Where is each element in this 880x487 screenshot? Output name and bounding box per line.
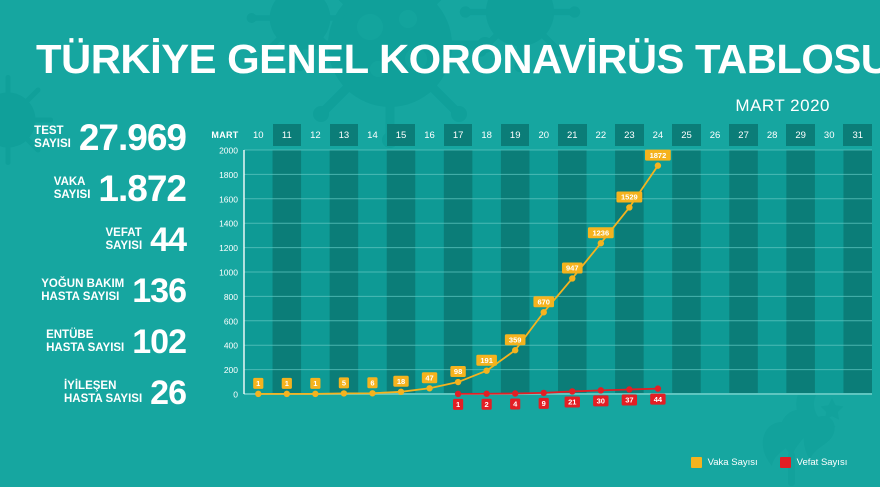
data-point[interactable] xyxy=(655,385,661,391)
stat-label-line2: HASTA SAYISI xyxy=(64,393,142,406)
date-cell-23[interactable]: 23 xyxy=(615,124,644,146)
date-cell-25[interactable]: 25 xyxy=(672,124,701,146)
data-point-label: 1 xyxy=(313,379,317,388)
stat-label-line2: HASTA SAYISI xyxy=(46,342,124,355)
data-point-label: 191 xyxy=(480,356,493,365)
data-point[interactable] xyxy=(541,390,547,396)
stat-row-test: TEST SAYISI 27.969 xyxy=(0,112,200,163)
data-point-label: 1 xyxy=(285,379,289,388)
stat-value-test: 27.969 xyxy=(79,121,186,155)
stat-value-vaka: 1.872 xyxy=(98,172,186,206)
data-point-label: 670 xyxy=(537,297,550,306)
y-tick-label-1400: 1400 xyxy=(219,219,238,229)
stat-label-line1: VEFAT xyxy=(106,227,143,240)
data-point-label: 30 xyxy=(597,397,605,406)
date-cell-10[interactable]: 10 xyxy=(244,124,273,146)
data-point-label: 1529 xyxy=(621,193,638,202)
stat-label-line1: TEST xyxy=(34,125,71,138)
stat-label-line1: ENTÜBE xyxy=(46,329,124,342)
date-cell-20[interactable]: 20 xyxy=(529,124,558,146)
month-year-label: MART 2020 xyxy=(735,96,830,116)
y-tick-label-200: 200 xyxy=(224,365,238,375)
stat-value-entube: 102 xyxy=(132,325,186,359)
stat-label-vefat: VEFAT SAYISI xyxy=(106,227,143,252)
date-cell-21[interactable]: 21 xyxy=(558,124,587,146)
y-tick-label-600: 600 xyxy=(224,316,238,326)
data-point[interactable] xyxy=(455,379,461,385)
date-cells: 1011121314151617181920212223242526272829… xyxy=(244,124,872,146)
chart-panel: MART 2020 MART 1011121314151617181920212… xyxy=(206,96,872,466)
data-point-label: 9 xyxy=(542,399,546,408)
stat-value-vefat: 44 xyxy=(150,223,186,257)
data-point-label: 2 xyxy=(485,400,489,409)
data-point[interactable] xyxy=(284,391,290,397)
date-cell-22[interactable]: 22 xyxy=(587,124,616,146)
data-point-label: 37 xyxy=(625,396,633,405)
y-tick-label-0: 0 xyxy=(233,390,238,400)
data-point-label: 44 xyxy=(654,395,663,404)
y-tick-label-1200: 1200 xyxy=(219,243,238,253)
stat-label-iyilesen: İYİLEŞEN HASTA SAYISI xyxy=(64,380,142,405)
stat-label-line2: SAYISI xyxy=(34,138,71,151)
date-header-row: MART 10111213141516171819202122232425262… xyxy=(206,124,872,146)
data-point[interactable] xyxy=(312,391,318,397)
data-point[interactable] xyxy=(598,240,604,246)
data-point-label: 21 xyxy=(568,398,576,407)
date-cell-27[interactable]: 27 xyxy=(729,124,758,146)
chart-legend: Vaka Sayısı Vefat Sayısı xyxy=(206,457,880,468)
data-point[interactable] xyxy=(626,204,632,210)
stat-row-entube: ENTÜBE HASTA SAYISI 102 xyxy=(0,316,200,367)
date-cell-16[interactable]: 16 xyxy=(415,124,444,146)
date-cell-18[interactable]: 18 xyxy=(472,124,501,146)
data-point-label: 1236 xyxy=(592,228,609,237)
data-point-label: 47 xyxy=(425,373,433,382)
y-tick-label-2000: 2000 xyxy=(219,146,238,156)
y-tick-label-1000: 1000 xyxy=(219,268,238,278)
data-point-label: 6 xyxy=(370,378,374,387)
legend-item-vaka: Vaka Sayısı xyxy=(691,457,758,468)
stat-label-line1: İYİLEŞEN xyxy=(64,380,142,393)
stat-label-line2: HASTA SAYISI xyxy=(41,291,124,304)
y-tick-label-800: 800 xyxy=(224,292,238,302)
data-point[interactable] xyxy=(626,386,632,392)
data-point[interactable] xyxy=(426,385,432,391)
date-cell-14[interactable]: 14 xyxy=(358,124,387,146)
legend-swatch-vefat xyxy=(780,457,791,468)
stat-value-yogun-bakim: 136 xyxy=(132,274,186,308)
legend-item-vefat: Vefat Sayısı xyxy=(780,457,848,468)
stat-row-vaka: VAKA SAYISI 1.872 xyxy=(0,163,200,214)
data-point[interactable] xyxy=(255,391,261,397)
stat-label-test: TEST SAYISI xyxy=(34,125,71,150)
data-point[interactable] xyxy=(341,390,347,396)
stat-value-iyilesen: 26 xyxy=(150,376,186,410)
data-point-label: 359 xyxy=(509,335,522,344)
stat-label-entube: ENTÜBE HASTA SAYISI xyxy=(46,329,124,354)
data-point[interactable] xyxy=(512,390,518,396)
stat-row-vefat: VEFAT SAYISI 44 xyxy=(0,214,200,265)
stat-row-yogun-bakim: YOĞUN BAKIM HASTA SAYISI 136 xyxy=(0,265,200,316)
date-cell-29[interactable]: 29 xyxy=(786,124,815,146)
data-point[interactable] xyxy=(398,389,404,395)
stat-label-vaka: VAKA SAYISI xyxy=(54,176,91,201)
stat-label-line1: YOĞUN BAKIM xyxy=(41,278,124,291)
data-point-label: 98 xyxy=(454,367,462,376)
stat-row-iyilesen: İYİLEŞEN HASTA SAYISI 26 xyxy=(0,367,200,418)
page-title: TÜRKİYE GENEL KORONAVİRÜS TABLOSU xyxy=(36,36,880,83)
stat-label-line1: VAKA xyxy=(54,176,91,189)
data-point-label: 947 xyxy=(566,264,579,273)
line-chart-svg: 0200400600800100012001400160018002000111… xyxy=(206,146,872,446)
data-point[interactable] xyxy=(512,347,518,353)
legend-label-vefat: Vefat Sayısı xyxy=(797,457,848,468)
date-header-month-label: MART xyxy=(206,124,244,146)
date-cell-26[interactable]: 26 xyxy=(701,124,730,146)
data-point[interactable] xyxy=(483,367,489,373)
data-point-label: 1872 xyxy=(650,151,667,160)
date-cell-15[interactable]: 15 xyxy=(387,124,416,146)
data-point[interactable] xyxy=(541,309,547,315)
date-cell-28[interactable]: 28 xyxy=(758,124,787,146)
y-tick-label-1600: 1600 xyxy=(219,194,238,204)
date-cell-24[interactable]: 24 xyxy=(644,124,673,146)
date-cell-17[interactable]: 17 xyxy=(444,124,473,146)
legend-swatch-vaka xyxy=(691,457,702,468)
y-tick-label-400: 400 xyxy=(224,341,238,351)
date-cell-19[interactable]: 19 xyxy=(501,124,530,146)
data-point[interactable] xyxy=(569,275,575,281)
date-cell-30[interactable]: 30 xyxy=(815,124,844,146)
data-point-label: 18 xyxy=(397,377,405,386)
data-point[interactable] xyxy=(369,390,375,396)
data-point-label: 1 xyxy=(456,400,460,409)
y-tick-label-1800: 1800 xyxy=(219,170,238,180)
data-point-label: 1 xyxy=(256,379,260,388)
data-point[interactable] xyxy=(483,391,489,397)
stats-panel: TEST SAYISI 27.969 VAKA SAYISI 1.872 VEF… xyxy=(0,112,200,418)
stat-label-yogun-bakim: YOĞUN BAKIM HASTA SAYISI xyxy=(41,278,124,303)
date-cell-13[interactable]: 13 xyxy=(330,124,359,146)
data-point[interactable] xyxy=(569,388,575,394)
date-cell-12[interactable]: 12 xyxy=(301,124,330,146)
stat-label-line2: SAYISI xyxy=(54,189,91,202)
data-point[interactable] xyxy=(455,391,461,397)
date-cell-31[interactable]: 31 xyxy=(843,124,872,146)
data-point-label: 5 xyxy=(342,379,346,388)
plot-area: 0200400600800100012001400160018002000111… xyxy=(206,146,872,446)
data-point[interactable] xyxy=(655,162,661,168)
date-cell-11[interactable]: 11 xyxy=(273,124,302,146)
data-point[interactable] xyxy=(598,387,604,393)
legend-label-vaka: Vaka Sayısı xyxy=(708,457,758,468)
stat-label-line2: SAYISI xyxy=(106,240,143,253)
